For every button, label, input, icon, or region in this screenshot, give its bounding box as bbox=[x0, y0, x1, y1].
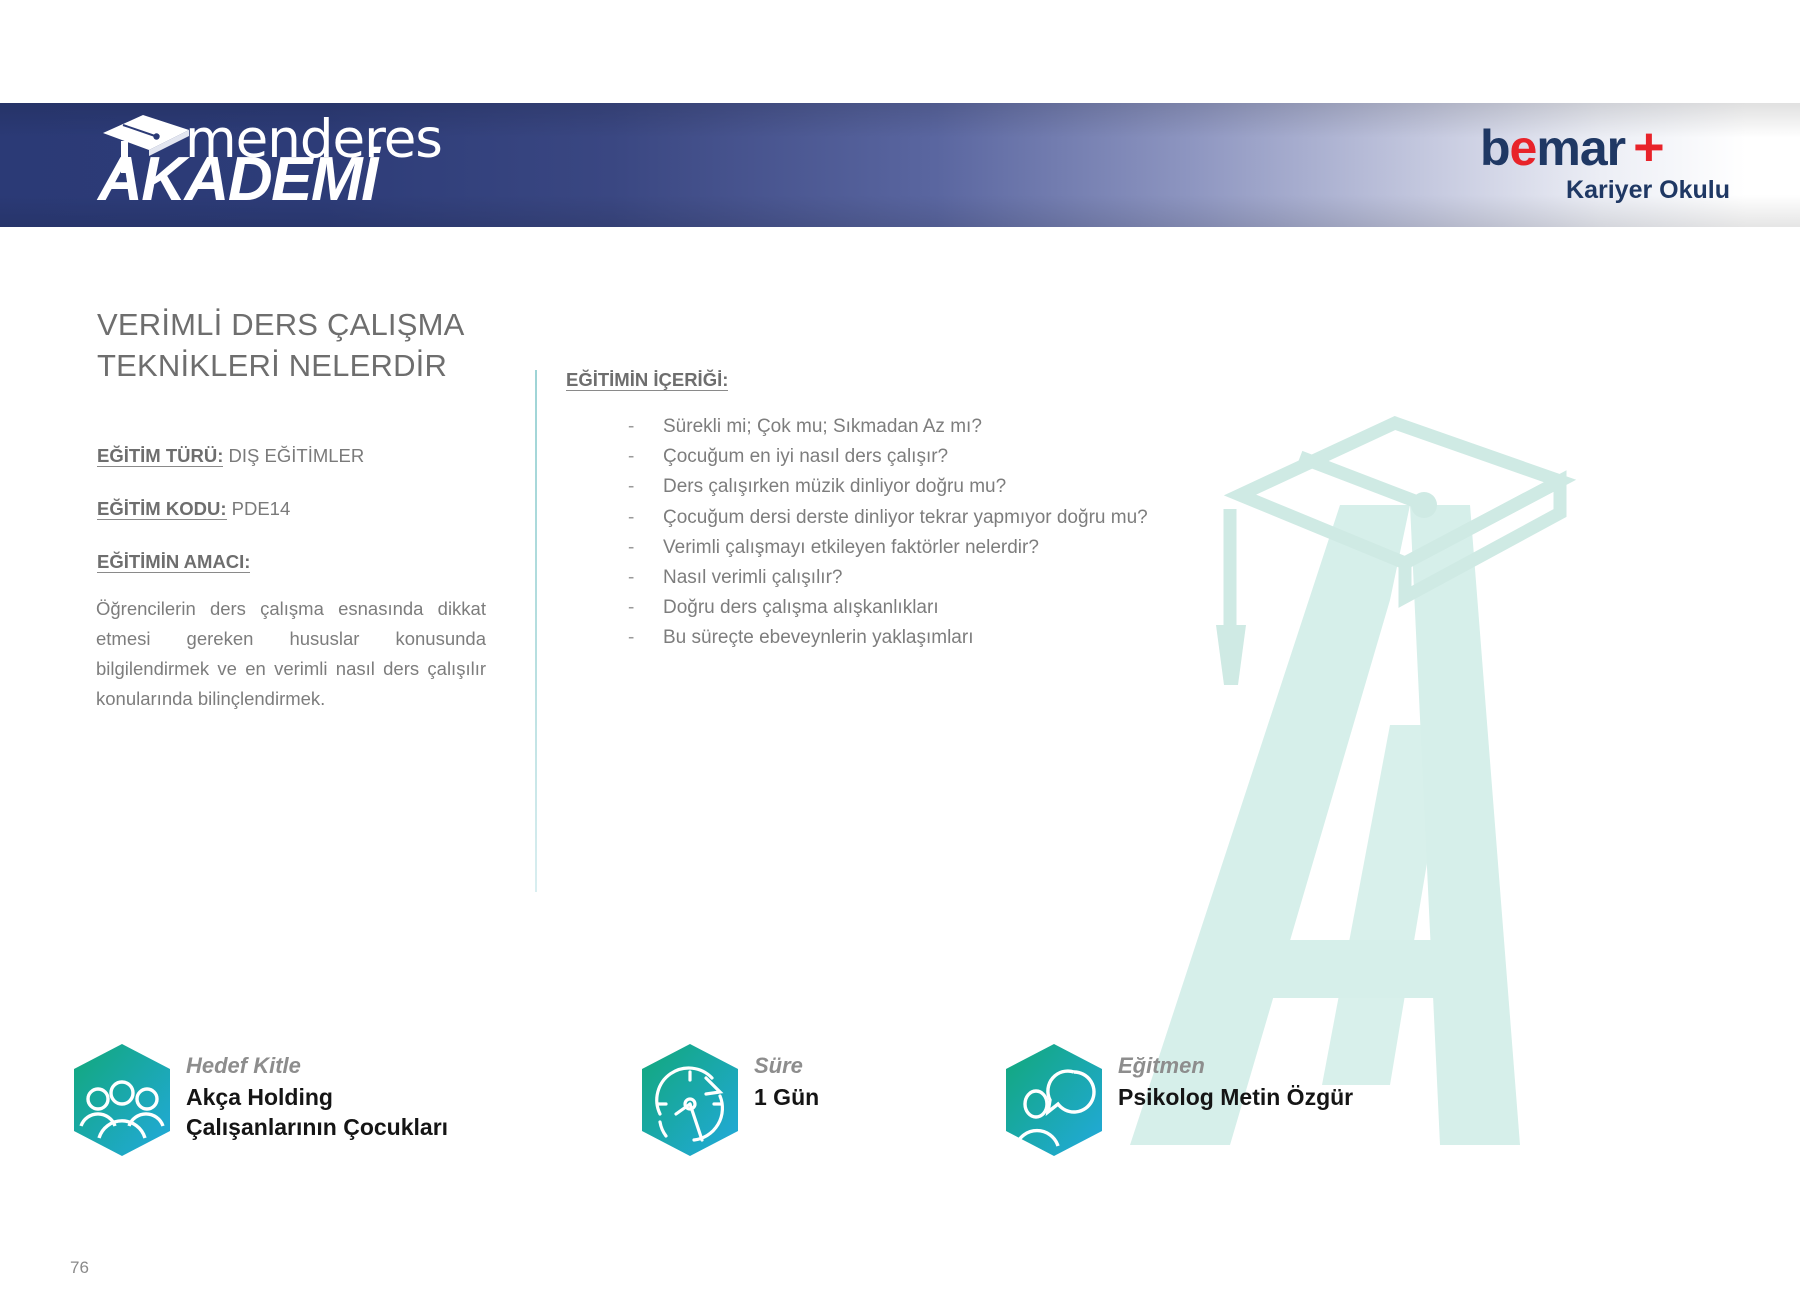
bullet-item: -Doğru ders çalışma alışkanlıkları bbox=[628, 593, 1328, 623]
bullet-text: Ders çalışırken müzik dinliyor doğru mu? bbox=[663, 472, 1328, 502]
badge-sure: Süre 1 Gün bbox=[636, 1042, 936, 1158]
field-egitim-turu-value: DIŞ EĞİTİMLER bbox=[229, 445, 365, 466]
bullet-text: Çocuğum en iyi nasıl ders çalışır? bbox=[663, 442, 1328, 472]
bemar-letters-mar: mar bbox=[1536, 120, 1625, 176]
badge-egitmen-value: Psikolog Metin Özgür bbox=[1118, 1082, 1353, 1112]
bullet-item: -Ders çalışırken müzik dinliyor doğru mu… bbox=[628, 472, 1328, 502]
bemar-wordmark: bemar+ bbox=[1480, 120, 1740, 174]
field-egitimin-amaci-label: EĞİTİMİN AMACI: bbox=[97, 551, 250, 573]
badge-hedef-kitle-caption: Hedef Kitle bbox=[186, 1054, 448, 1079]
field-egitim-kodu: EĞİTİM KODU: PDE14 bbox=[97, 497, 527, 521]
people-group-icon bbox=[68, 1042, 176, 1158]
badge-hedef-kitle-text: Hedef Kitle Akça Holding Çalışanlarının … bbox=[186, 1054, 448, 1142]
bullet-text: Nasıl verimli çalışılır? bbox=[663, 563, 1328, 593]
badge-egitmen-caption: Eğitmen bbox=[1118, 1054, 1353, 1079]
bullet-text: Verimli çalışmayı etkileyen faktörler ne… bbox=[663, 533, 1328, 563]
bullet-marker: - bbox=[628, 563, 663, 593]
bullet-text: Bu süreçte ebeveynlerin yaklaşımları bbox=[663, 623, 1328, 653]
column-divider bbox=[535, 370, 537, 892]
bullet-item: -Sürekli mi; Çok mu; Sıkmadan Az mı? bbox=[628, 412, 1328, 442]
content-section-label-text: EĞİTİMİN İÇERİĞİ: bbox=[566, 369, 728, 391]
page-title: VERİMLİ DERS ÇALIŞMA TEKNİKLERİ NELERDİR bbox=[97, 305, 517, 387]
content-bullet-list: -Sürekli mi; Çok mu; Sıkmadan Az mı?-Çoc… bbox=[628, 412, 1328, 654]
bullet-item: -Çocuğum dersi derste dinliyor tekrar ya… bbox=[628, 503, 1328, 533]
bemar-letter-e: e bbox=[1510, 120, 1537, 176]
field-egitimin-amaci: EĞİTİMİN AMACI: bbox=[97, 550, 527, 574]
logo-wordmark-akademi: AKADEMİ bbox=[98, 149, 377, 211]
plus-icon: + bbox=[1633, 117, 1664, 177]
bullet-item: -Nasıl verimli çalışılır? bbox=[628, 563, 1328, 593]
badge-egitmen-text: Eğitmen Psikolog Metin Özgür bbox=[1118, 1054, 1353, 1112]
bullet-text: Doğru ders çalışma alışkanlıkları bbox=[663, 593, 1328, 623]
badge-egitmen: Eğitmen Psikolog Metin Özgür bbox=[1000, 1042, 1420, 1158]
bullet-marker: - bbox=[628, 593, 663, 623]
bullet-marker: - bbox=[628, 472, 663, 502]
bullet-text: Çocuğum dersi derste dinliyor tekrar yap… bbox=[663, 503, 1328, 533]
bullet-item: -Verimli çalışmayı etkileyen faktörler n… bbox=[628, 533, 1328, 563]
badge-sure-value: 1 Gün bbox=[754, 1082, 819, 1112]
badge-sure-text: Süre 1 Gün bbox=[754, 1054, 819, 1112]
bullet-marker: - bbox=[628, 442, 663, 472]
content-section-label: EĞİTİMİN İÇERİĞİ: bbox=[566, 369, 728, 391]
badge-hedef-kitle: Hedef Kitle Akça Holding Çalışanlarının … bbox=[68, 1042, 488, 1158]
field-egitim-kodu-value: PDE14 bbox=[232, 498, 291, 519]
bullet-marker: - bbox=[628, 623, 663, 653]
field-egitim-kodu-label: EĞİTİM KODU: bbox=[97, 498, 227, 520]
bullet-marker: - bbox=[628, 412, 663, 442]
field-egitim-turu: EĞİTİM TÜRÜ: DIŞ EĞİTİMLER bbox=[97, 444, 527, 468]
bullet-marker: - bbox=[628, 503, 663, 533]
bullet-marker: - bbox=[628, 533, 663, 563]
purpose-paragraph: Öğrencilerin ders çalışma esnasında dikk… bbox=[96, 594, 486, 714]
bemar-plus-logo: bemar+ Kariyer Okulu bbox=[1480, 120, 1740, 220]
badge-hedef-kitle-value: Akça Holding Çalışanlarının Çocukları bbox=[186, 1082, 448, 1143]
trainer-speech-icon bbox=[1000, 1042, 1108, 1158]
badge-sure-caption: Süre bbox=[754, 1054, 819, 1079]
page-number: 76 bbox=[70, 1258, 89, 1278]
field-egitim-turu-label: EĞİTİM TÜRÜ: bbox=[97, 445, 223, 467]
menderes-akademi-logo: menderes AKADEMİ bbox=[97, 109, 517, 221]
bullet-item: -Çocuğum en iyi nasıl ders çalışır? bbox=[628, 442, 1328, 472]
bemar-tagline: Kariyer Okulu bbox=[1480, 178, 1740, 203]
bullet-text: Sürekli mi; Çok mu; Sıkmadan Az mı? bbox=[663, 412, 1328, 442]
bemar-letter-b: b bbox=[1480, 120, 1510, 176]
clock-icon bbox=[636, 1042, 744, 1158]
bullet-item: -Bu süreçte ebeveynlerin yaklaşımları bbox=[628, 623, 1328, 653]
